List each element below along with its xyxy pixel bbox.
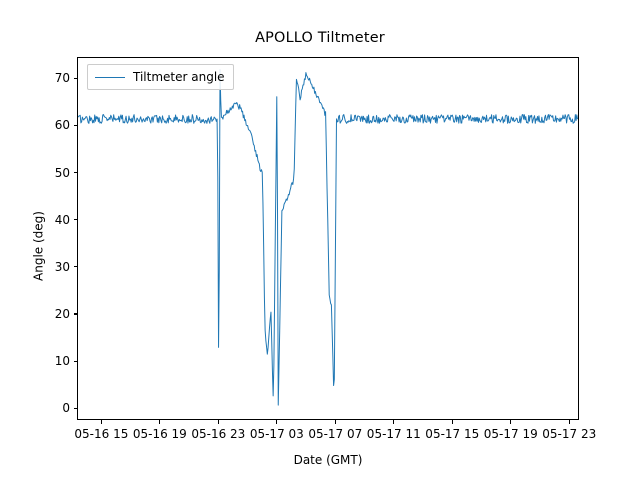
- plot-area: [77, 57, 579, 420]
- x-tick-mark: [452, 420, 453, 424]
- legend-label-tiltmeter-angle: Tiltmeter angle: [133, 70, 225, 84]
- x-tick-mark: [159, 420, 160, 424]
- x-tick-label: 05-17 11: [367, 427, 421, 441]
- x-tick-mark: [218, 420, 219, 424]
- series-path-tiltmeter-angle: [78, 70, 578, 406]
- x-tick-mark: [510, 420, 511, 424]
- x-tick-label: 05-16 15: [74, 427, 128, 441]
- x-tick-label: 05-17 15: [425, 427, 479, 441]
- x-axis-label: Date (GMT): [77, 453, 579, 467]
- legend: Tiltmeter angle: [87, 64, 234, 90]
- chart-title: APOLLO Tiltmeter: [0, 30, 640, 46]
- x-tick-label: 05-16 23: [191, 427, 245, 441]
- y-axis-label: Angle (deg): [32, 65, 46, 428]
- x-tick-mark: [276, 420, 277, 424]
- x-tick-mark: [569, 420, 570, 424]
- x-tick-label: 05-17 03: [250, 427, 304, 441]
- x-tick-label: 05-17 07: [308, 427, 362, 441]
- x-tick-mark: [393, 420, 394, 424]
- x-tick-mark: [101, 420, 102, 424]
- x-tick-mark: [335, 420, 336, 424]
- tiltmeter-angle-line: [78, 58, 578, 419]
- x-tick-label: 05-17 19: [484, 427, 538, 441]
- legend-line-swatch: [95, 77, 125, 78]
- x-tick-label: 05-17 23: [542, 427, 596, 441]
- figure-canvas: APOLLO Tiltmeter 010203040506070 05-16 1…: [0, 0, 640, 480]
- x-tick-label: 05-16 19: [133, 427, 187, 441]
